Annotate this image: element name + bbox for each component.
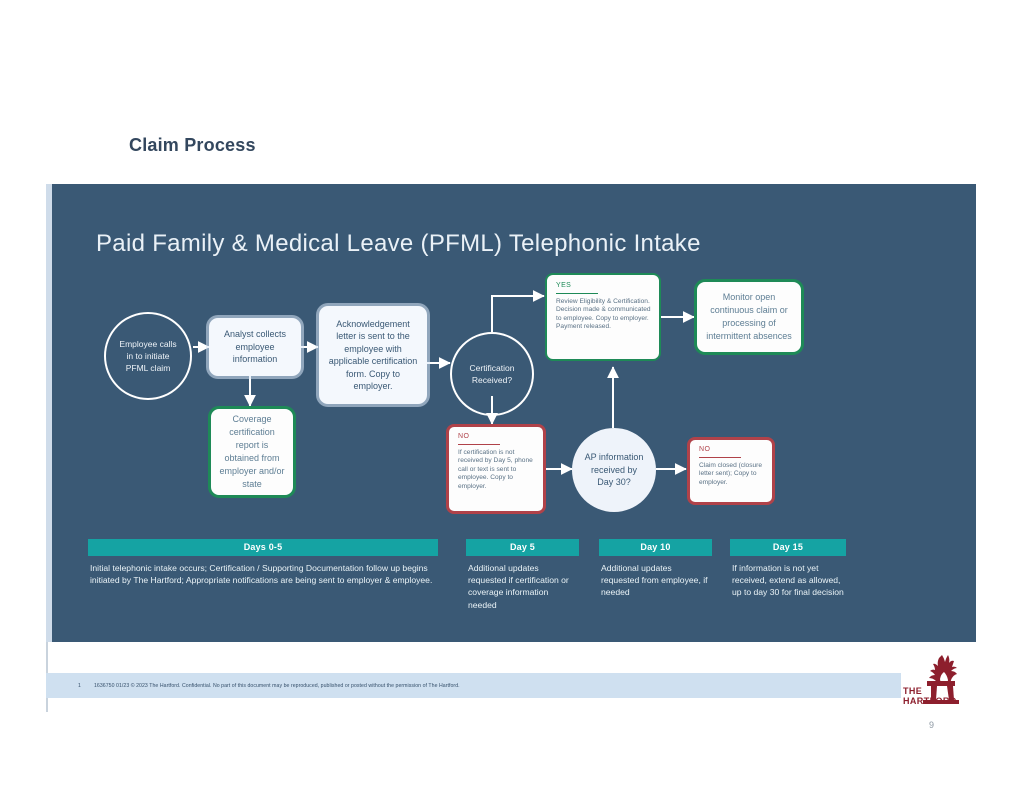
yes-body-text: Review Eligibility & Certification. Deci… (556, 298, 651, 332)
flow-diagram: Employee calls in to initiate PFML claim… (46, 184, 976, 642)
timeline-label-3: Day 15 (730, 539, 846, 556)
timeline-text-0: Initial telephonic intake occurs; Certif… (88, 556, 438, 586)
timeline-item-0[interactable]: Days 0-5 Initial telephonic intake occur… (88, 539, 438, 586)
footer-disclaimer: 1636750 01/23 © 2023 The Hartford. Confi… (94, 683, 460, 689)
node-monitor-open-claim[interactable]: Monitor open continuous claim or process… (694, 279, 804, 355)
node-analyst-collects[interactable]: Analyst collects employee information (209, 318, 301, 376)
timeline-text-3: If information is not yet received, exte… (730, 556, 846, 599)
node-yes-review-eligibility[interactable]: YES Review Eligibility & Certification. … (545, 273, 661, 361)
logo-line-2: HARTFORD (903, 696, 957, 706)
yes-label: YES (556, 282, 571, 292)
node-coverage-certification[interactable]: Coverage certification report is obtaine… (208, 406, 296, 498)
node-acknowledgement-letter[interactable]: Acknowledgement letter is sent to the em… (319, 306, 427, 404)
no-rule-1 (458, 444, 500, 445)
timeline-text-2: Additional updates requested from employ… (599, 556, 712, 599)
no-label-1: NO (458, 433, 469, 443)
no-label-2: NO (699, 446, 710, 456)
hartford-wordmark: THE HARTFORD (903, 686, 957, 706)
slide-bottom-white (46, 642, 976, 664)
timeline-label-0: Days 0-5 (88, 539, 438, 556)
timeline-label-1: Day 5 (466, 539, 579, 556)
slide-page: Claim Process Paid Family & Medical Leav… (0, 0, 1024, 791)
timeline-label-2: Day 10 (599, 539, 712, 556)
timeline-text-1: Additional updates requested if certific… (466, 556, 579, 611)
node-no-claim-closed[interactable]: NO Claim closed (closure letter sent); C… (687, 437, 775, 505)
no-rule-2 (699, 457, 741, 458)
node-certification-received[interactable]: Certification Received? (450, 332, 534, 416)
page-title: Claim Process (129, 135, 256, 156)
logo-line-1: THE (903, 686, 957, 696)
page-number: 9 (929, 720, 934, 730)
node-ap-information-received[interactable]: AP information received by Day 30? (572, 428, 656, 512)
yes-rule (556, 293, 598, 294)
timeline-item-2[interactable]: Day 10 Additional updates requested from… (599, 539, 712, 599)
no-body-text-2: Claim closed (closure letter sent); Copy… (699, 462, 764, 488)
no-body-text-1: If certification is not received by Day … (458, 449, 535, 492)
timeline-item-3[interactable]: Day 15 If information is not yet receive… (730, 539, 846, 599)
node-no-certification-not-received[interactable]: NO If certification is not received by D… (446, 424, 546, 514)
node-employee-calls[interactable]: Employee calls in to initiate PFML claim (104, 312, 192, 400)
footer-page-marker: 1 (78, 683, 81, 689)
timeline-item-1[interactable]: Day 5 Additional updates requested if ce… (466, 539, 579, 611)
